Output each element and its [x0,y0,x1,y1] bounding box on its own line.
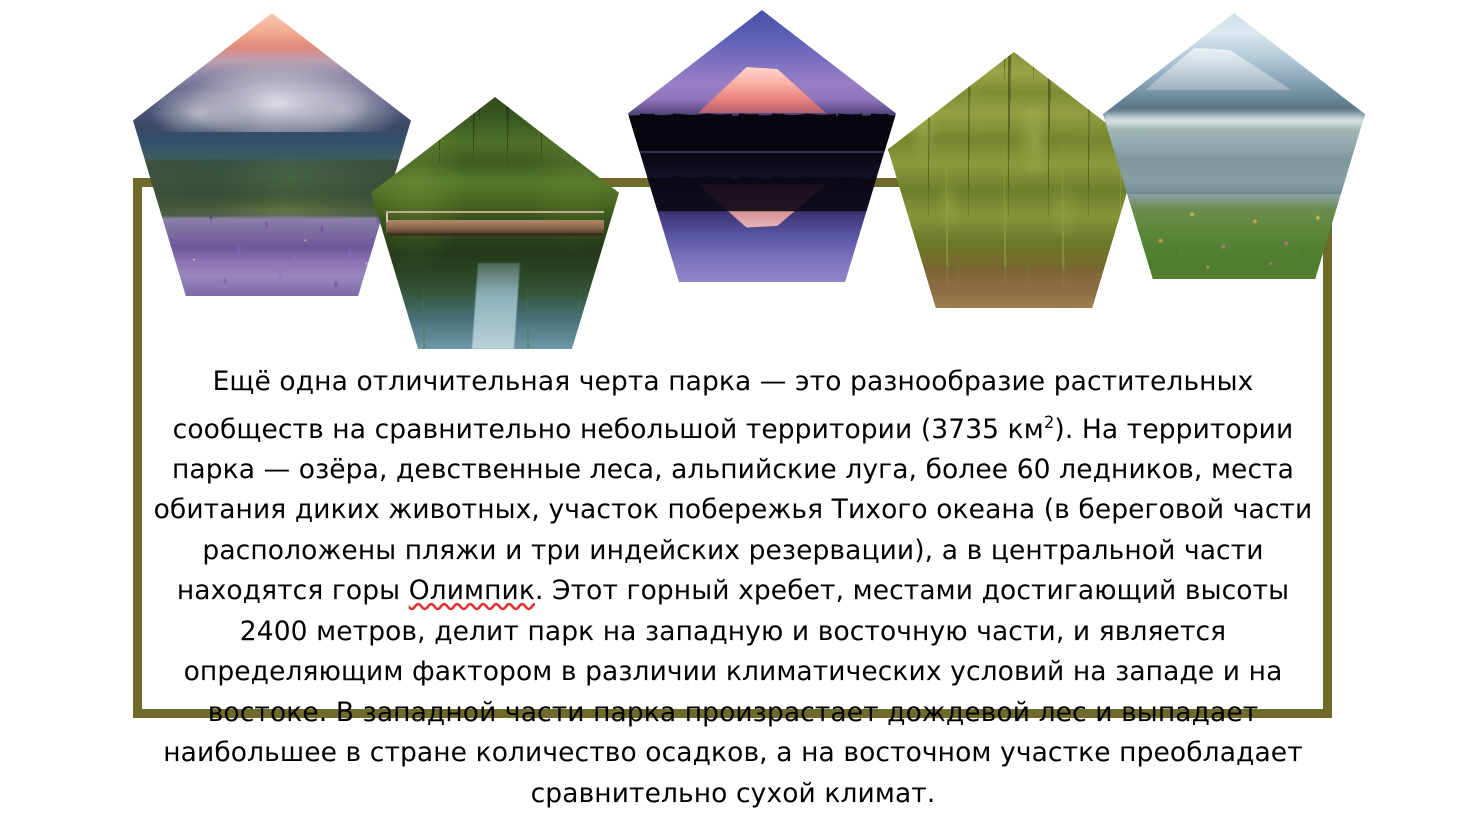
lupine-meadow-layer [133,200,411,296]
pentagon-image-1[interactable] [133,13,411,296]
moss-layer [888,52,1140,308]
square-superscript: 2 [1044,413,1055,432]
wildflower-layer [1103,194,1365,279]
treeline-reflection-layer [628,146,896,211]
treeline-layer [628,81,896,152]
pentagon-image-4[interactable] [888,52,1140,308]
body-paragraph: Ещё одна отличительная черта парка — это… [140,362,1326,814]
pentagon-photo-gallery [0,0,1474,340]
misty-peak-layer [1145,48,1292,91]
misspelled-word-olimpik[interactable]: Олимпик [409,575,535,606]
mountain-sunset-photo [133,13,411,296]
hoh-rainforest-photo [888,52,1140,308]
footbridge-layer [386,220,604,233]
paragraph-segment-3: . Этот горный хребет, местами достигающи… [163,575,1311,809]
reflection-lake-photo [1103,13,1365,279]
rainier-dusk-photo [628,10,896,282]
pentagon-image-5[interactable] [1103,13,1365,279]
pentagon-image-2[interactable] [371,97,619,349]
mist-band-layer [1103,109,1365,136]
river-layer [472,263,520,349]
forest-bridge-photo [371,97,619,349]
slide-canvas: Ещё одна отличительная черта парка — это… [0,0,1474,831]
pentagon-image-3[interactable] [628,10,896,282]
lake-reflection-layer [1103,135,1365,194]
